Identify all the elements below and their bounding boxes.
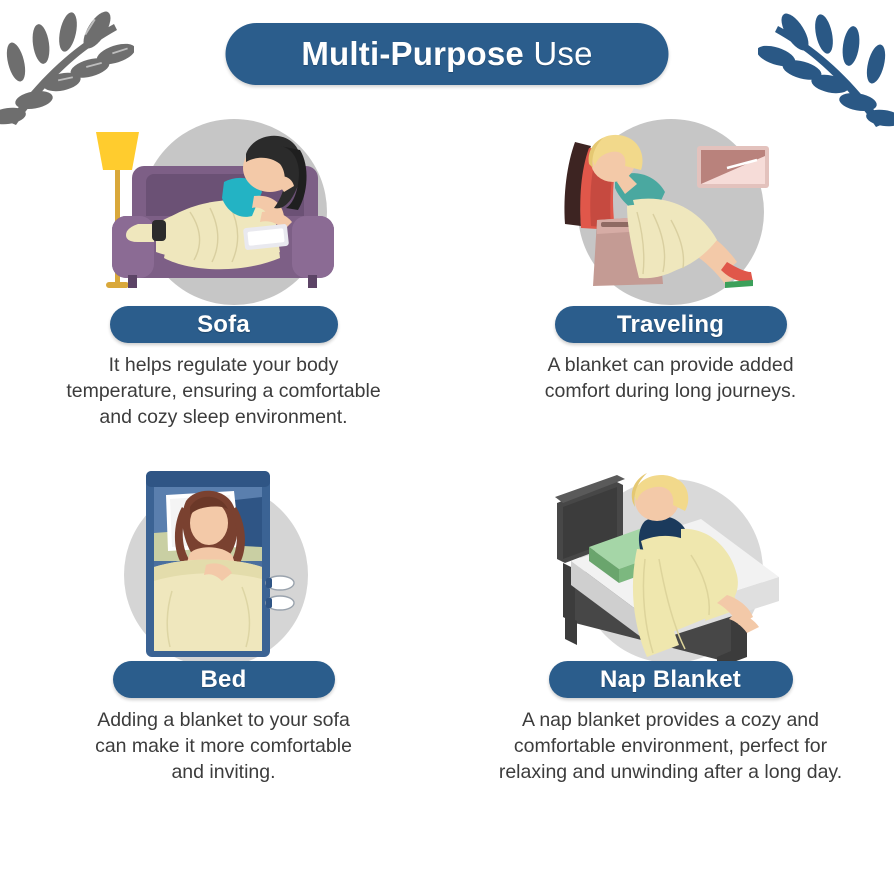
- page-title-banner: Multi-Purpose Use: [226, 23, 669, 85]
- page-title-light: Use: [533, 35, 592, 72]
- card-description-sofa: It helps regulate your body temperature,…: [24, 352, 424, 430]
- card-description-bed: Adding a blanket to your sofa can make i…: [59, 707, 389, 785]
- card-label-sofa: Sofa: [110, 306, 338, 343]
- woman-sleeping-in-bed-top-view-illustration: [94, 467, 354, 667]
- woman-lying-on-sofa-illustration: [94, 112, 354, 312]
- card-sofa: Sofa It helps regulate your body tempera…: [0, 110, 447, 465]
- card-description-traveling: A blanket can provide added comfort duri…: [506, 352, 836, 404]
- card-label-traveling: Traveling: [555, 306, 787, 343]
- card-traveling: Traveling A blanket can provide added co…: [447, 110, 894, 465]
- card-nap-blanket: Nap Blanket A nap blanket provides a coz…: [447, 465, 894, 820]
- card-label-text: Bed: [201, 666, 247, 694]
- card-label-text: Nap Blanket: [600, 666, 741, 694]
- person-napping-on-bed-isometric-illustration: [541, 467, 801, 667]
- card-label-bed: Bed: [113, 661, 335, 698]
- page-title-strong: Multi-Purpose: [301, 35, 524, 72]
- page-title: Multi-Purpose Use: [301, 35, 592, 73]
- card-label-nap-blanket: Nap Blanket: [549, 661, 793, 698]
- woman-reclining-in-travel-seat-illustration: [541, 112, 801, 312]
- card-label-text: Traveling: [617, 311, 724, 339]
- card-description-nap-blanket: A nap blanket provides a cozy and comfor…: [471, 707, 871, 785]
- card-label-text: Sofa: [197, 311, 250, 339]
- cards-grid: Sofa It helps regulate your body tempera…: [0, 110, 894, 820]
- card-bed: Bed Adding a blanket to your sofa can ma…: [0, 465, 447, 820]
